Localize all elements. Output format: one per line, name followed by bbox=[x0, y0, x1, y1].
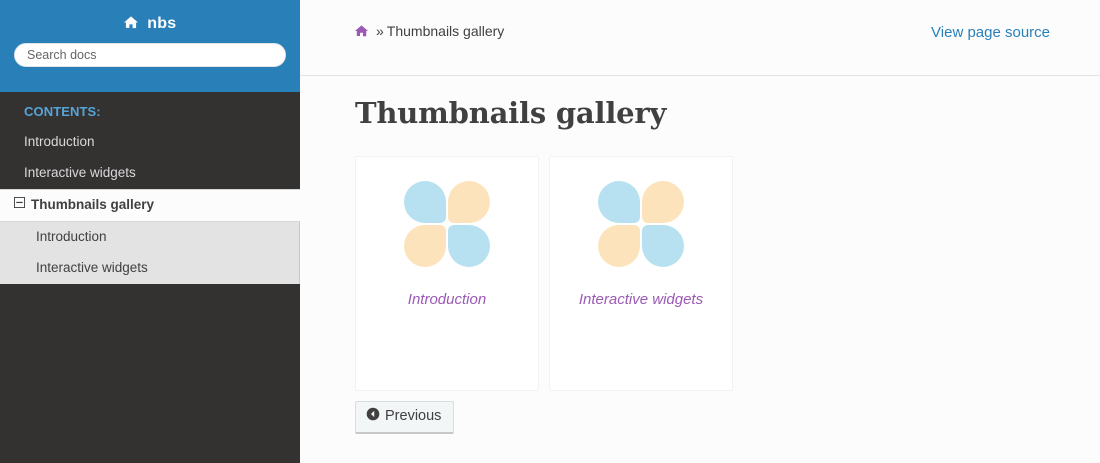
breadcrumb-bar: »Thumbnails gallery View page source bbox=[300, 0, 1100, 76]
main-content: »Thumbnails gallery View page source Thu… bbox=[300, 0, 1100, 463]
sidebar-link-thumbnails-gallery-label: Thumbnails gallery bbox=[31, 197, 154, 212]
view-page-source-link[interactable]: View page source bbox=[931, 24, 1050, 41]
arrow-circle-left-icon bbox=[366, 407, 380, 426]
page-title: Thumbnails gallery bbox=[355, 98, 1055, 130]
brand-home-link[interactable]: nbs bbox=[0, 0, 300, 43]
breadcrumb-home-icon[interactable] bbox=[355, 24, 368, 42]
thumbnail-caption: Introduction bbox=[400, 291, 494, 309]
petal-bottom-right bbox=[448, 225, 490, 267]
brand-label: nbs bbox=[147, 15, 176, 32]
sidebar-nav: Introduction Interactive widgets Thumbna… bbox=[0, 127, 300, 284]
previous-button-label: Previous bbox=[385, 408, 441, 424]
previous-button[interactable]: Previous bbox=[355, 401, 454, 434]
nbsphinx-flower-logo-icon bbox=[598, 181, 684, 267]
petal-bottom-left bbox=[598, 225, 640, 267]
sidebar-subitem-introduction[interactable]: Introduction bbox=[0, 222, 299, 253]
sidebar-item-interactive-widgets[interactable]: Interactive widgets bbox=[0, 158, 300, 189]
sidebar-sublink-interactive-widgets[interactable]: Interactive widgets bbox=[0, 253, 299, 284]
documentation-page: nbs CONTENTS: Introduction Interactive w… bbox=[0, 0, 1100, 463]
thumbnail-card-interactive-widgets[interactable]: Interactive widgets bbox=[549, 156, 733, 391]
sidebar-link-interactive-widgets[interactable]: Interactive widgets bbox=[0, 158, 300, 189]
thumbnail-caption: Interactive widgets bbox=[571, 291, 711, 309]
petal-top-right bbox=[642, 181, 684, 223]
sidebar-item-introduction[interactable]: Introduction bbox=[0, 127, 300, 158]
sidebar-header: nbs bbox=[0, 0, 300, 92]
search-container bbox=[0, 43, 300, 67]
petal-top-left bbox=[404, 181, 446, 223]
petal-top-left bbox=[598, 181, 640, 223]
sidebar-subnav: Introduction Interactive widgets bbox=[0, 222, 300, 284]
nbsphinx-flower-logo-icon bbox=[404, 181, 490, 267]
breadcrumb-current: Thumbnails gallery bbox=[387, 23, 505, 39]
breadcrumb-separator: » bbox=[376, 23, 384, 39]
minus-square-icon[interactable] bbox=[14, 197, 25, 208]
sidebar-subitem-interactive-widgets[interactable]: Interactive widgets bbox=[0, 253, 299, 284]
thumbnail-card-introduction[interactable]: Introduction bbox=[355, 156, 539, 391]
sidebar-link-introduction[interactable]: Introduction bbox=[0, 127, 300, 158]
petal-bottom-left bbox=[404, 225, 446, 267]
search-input[interactable] bbox=[14, 43, 286, 67]
petal-bottom-right bbox=[642, 225, 684, 267]
document-body: Thumbnails gallery Introduction bbox=[300, 76, 1100, 434]
home-icon bbox=[124, 16, 138, 32]
sidebar: nbs CONTENTS: Introduction Interactive w… bbox=[0, 0, 300, 463]
sidebar-caption: CONTENTS: bbox=[0, 92, 300, 127]
footer-navigation: Previous bbox=[355, 401, 1055, 434]
sidebar-sublink-introduction[interactable]: Introduction bbox=[0, 222, 299, 253]
sidebar-item-thumbnails-gallery[interactable]: Thumbnails gallery Introduction Interact… bbox=[0, 189, 300, 284]
petal-top-right bbox=[448, 181, 490, 223]
sidebar-link-thumbnails-gallery[interactable]: Thumbnails gallery bbox=[0, 189, 300, 222]
thumbnail-gallery: Introduction Interactive widgets bbox=[355, 156, 1055, 391]
